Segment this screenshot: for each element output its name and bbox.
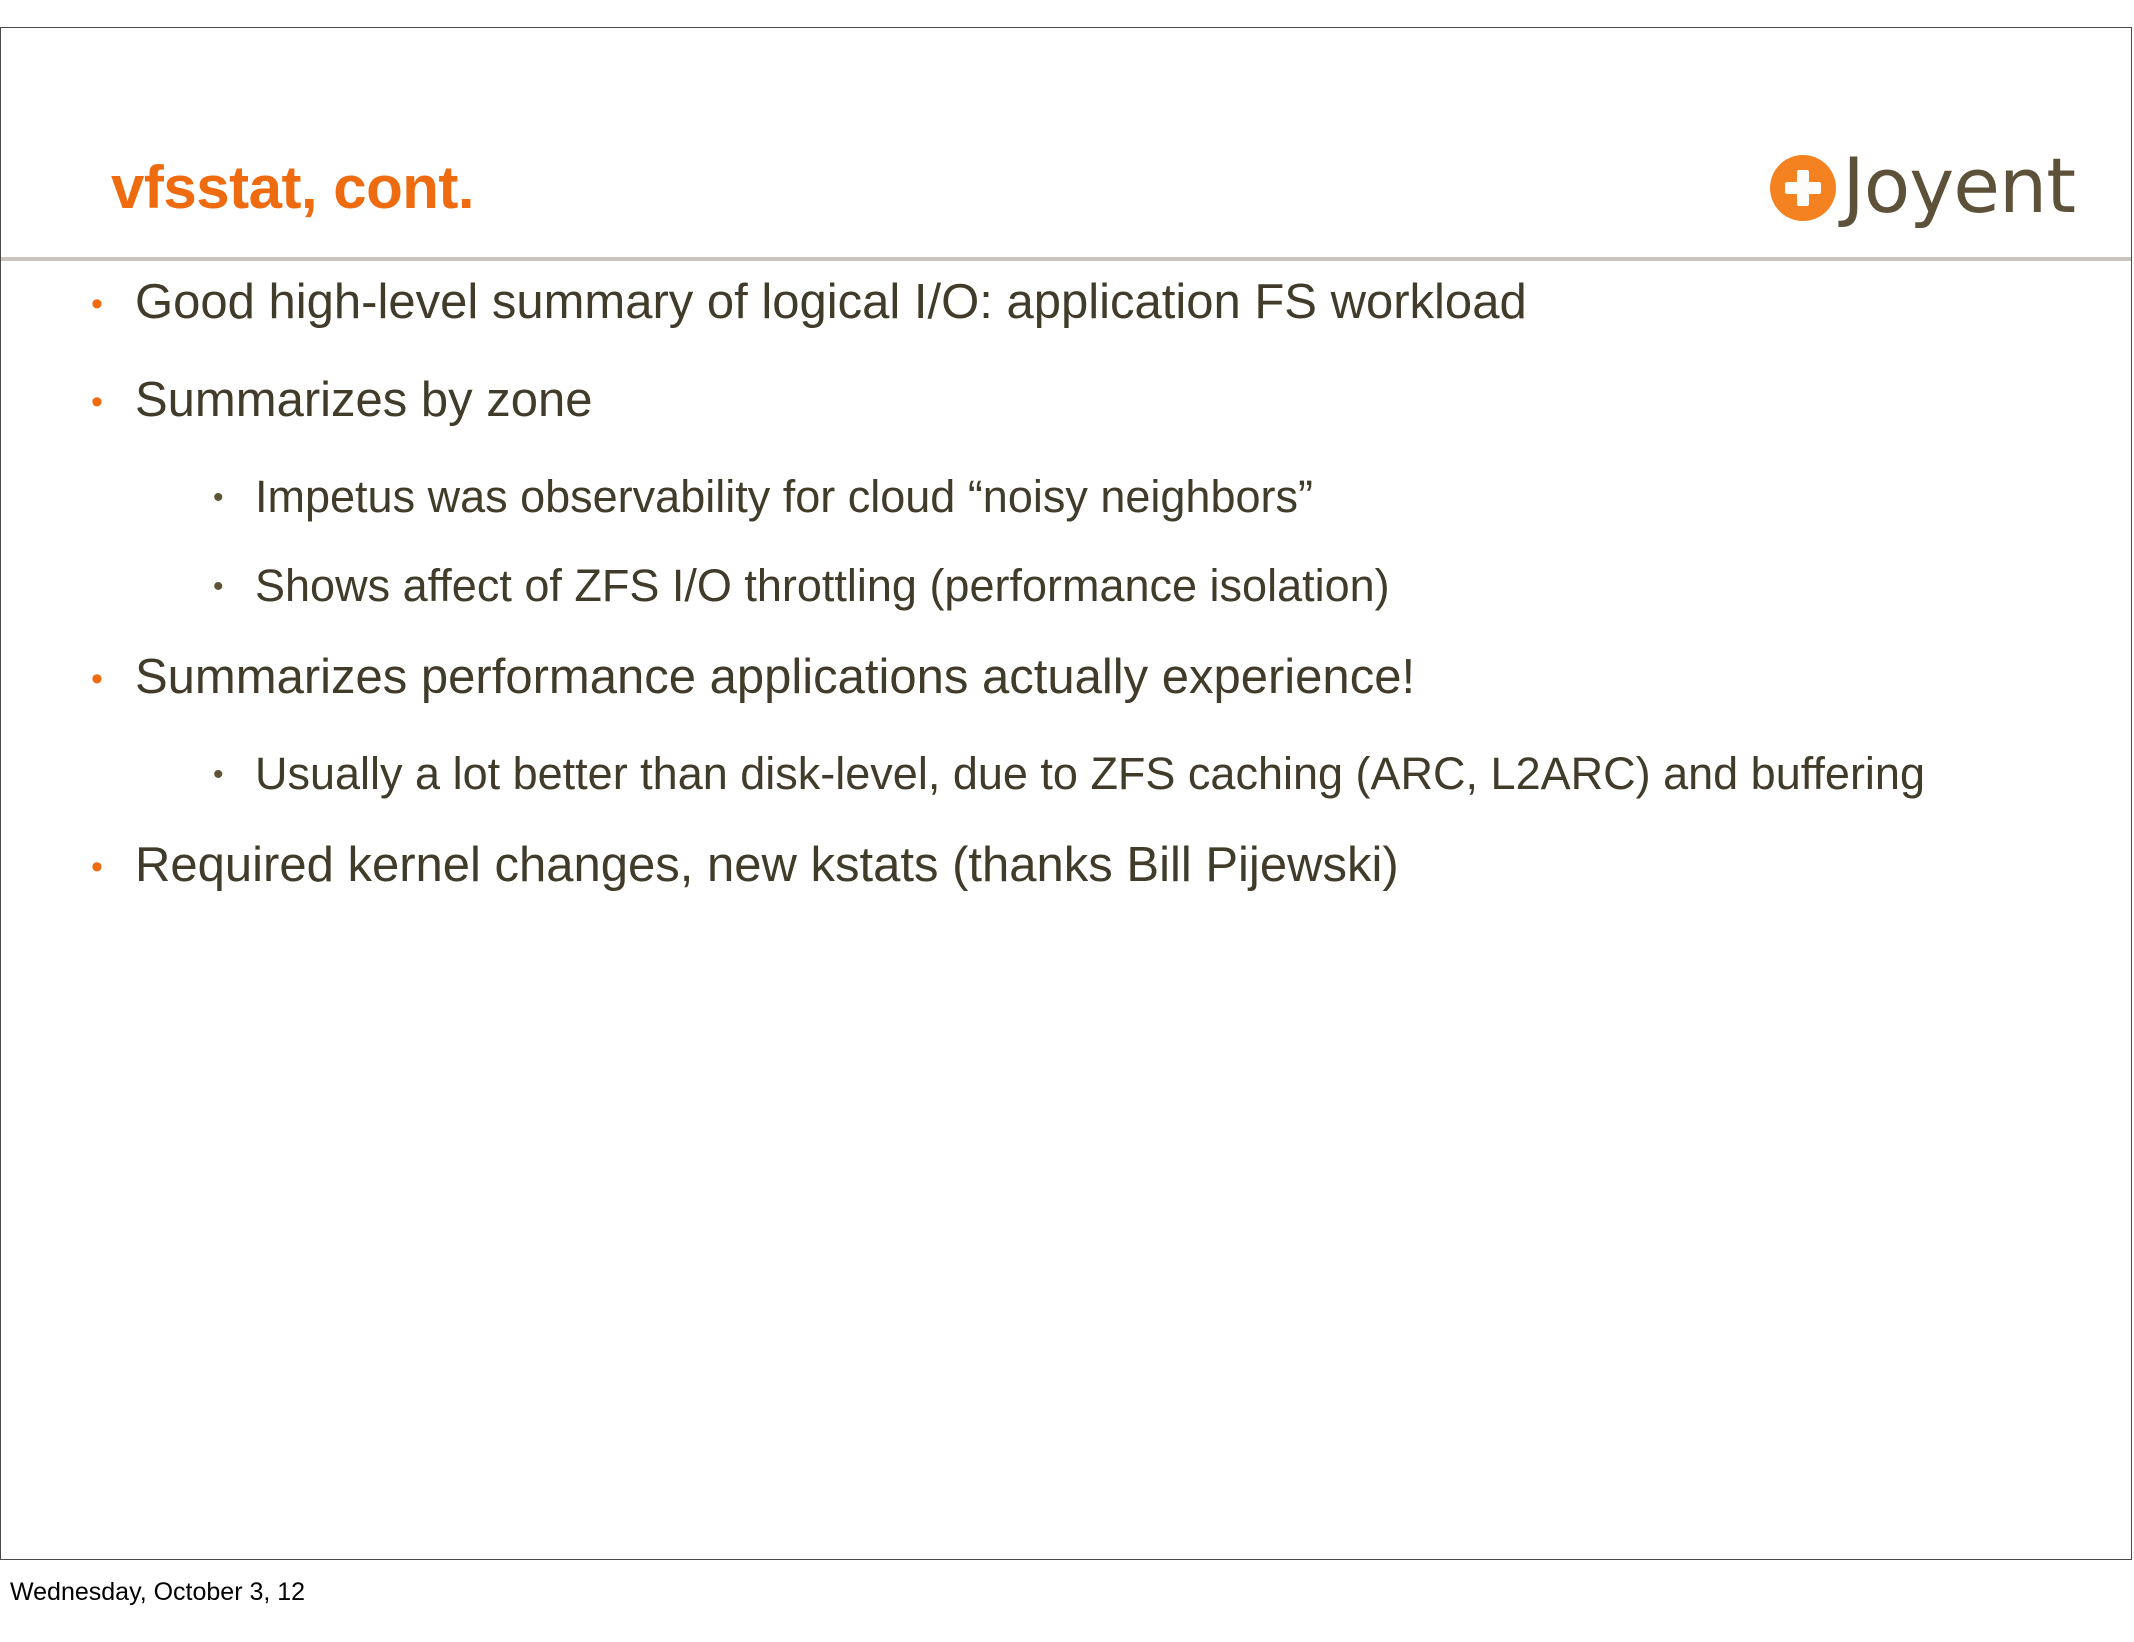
list-item: • Usually a lot better than disk-level, … [213, 746, 2071, 802]
bullet-marker-icon: • [213, 469, 255, 513]
bullet-marker-icon: • [213, 746, 255, 790]
bullet-marker-icon: • [91, 371, 135, 419]
list-item: • Summarizes by zone [91, 371, 2071, 431]
joyent-wordmark: Joyent [1842, 148, 2075, 224]
slide-content: • Good high-level summary of logical I/O… [1, 273, 2131, 933]
list-item: • Impetus was observability for cloud “n… [213, 469, 2071, 525]
list-item: • Summarizes performance applications ac… [91, 648, 2071, 708]
presentation-date-note: Wednesday, October 3, 12 [10, 1578, 305, 1607]
joyent-logo: Joyent [1770, 148, 2075, 228]
header-divider [1, 257, 2131, 261]
list-item-text: Good high-level summary of logical I/O: … [135, 273, 2071, 333]
list-item: • Shows affect of ZFS I/O throttling (pe… [213, 558, 2071, 614]
list-item-text: Usually a lot better than disk-level, du… [255, 746, 2071, 802]
bullet-marker-icon: • [91, 648, 135, 696]
list-item: • Good high-level summary of logical I/O… [91, 273, 2071, 333]
slide-canvas: vfsstat, cont. Joyent • Good high-level … [0, 27, 2132, 1560]
list-item-text: Required kernel changes, new kstats (tha… [135, 836, 2071, 896]
list-item-text: Impetus was observability for cloud “noi… [255, 469, 2071, 525]
plus-circle-icon [1770, 155, 1836, 221]
list-item-text: Summarizes by zone [135, 371, 2071, 431]
bullet-marker-icon: • [91, 273, 135, 321]
page-title: vfsstat, cont. [111, 158, 474, 218]
list-item: • Required kernel changes, new kstats (t… [91, 836, 2071, 896]
list-item-text: Summarizes performance applications actu… [135, 648, 2071, 708]
bullet-marker-icon: • [213, 558, 255, 602]
bullet-marker-icon: • [91, 836, 135, 884]
slide-header: vfsstat, cont. Joyent [1, 28, 2131, 257]
list-item-text: Shows affect of ZFS I/O throttling (perf… [255, 558, 2071, 614]
